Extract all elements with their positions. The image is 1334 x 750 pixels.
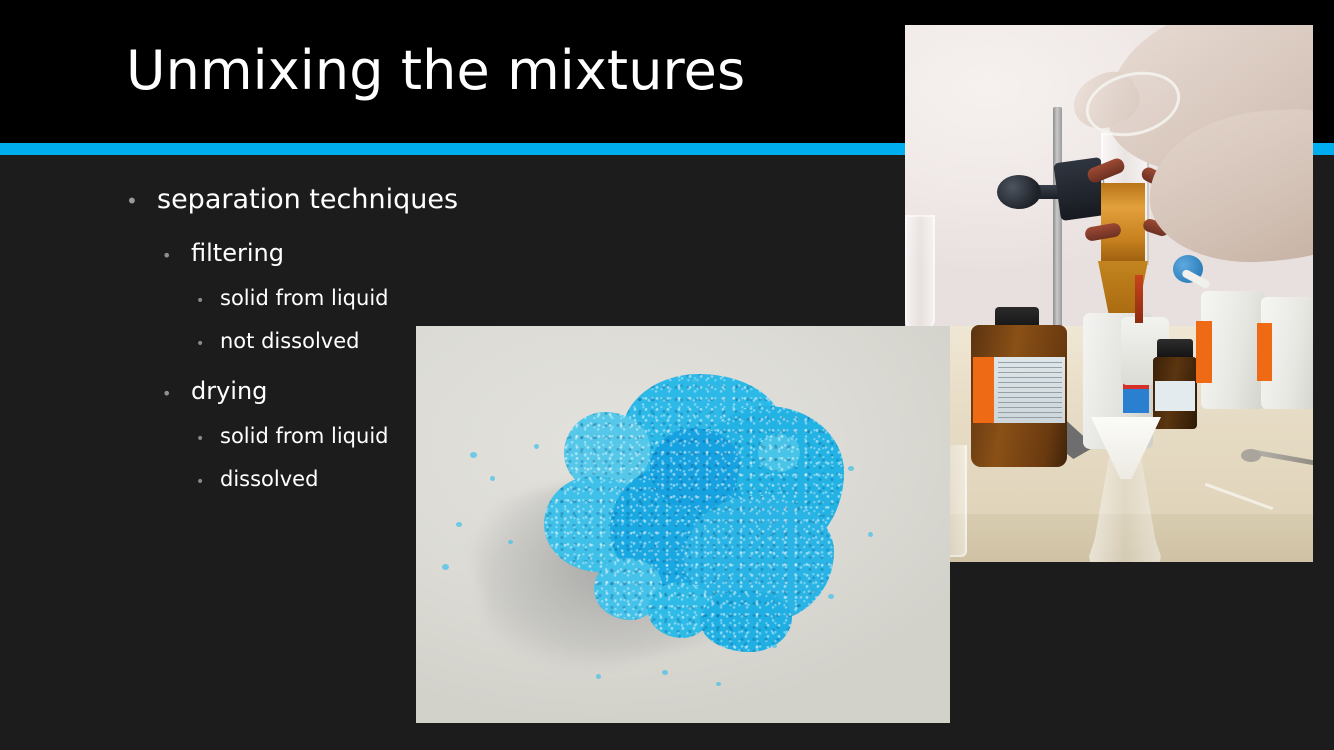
list-item-label: filtering (191, 239, 284, 267)
test-tube (905, 215, 935, 331)
list-item-label: solid from liquid (220, 286, 388, 310)
copper-sulfate-photo (416, 326, 950, 723)
list-item-label: separation techniques (157, 184, 458, 215)
label-text-lines (998, 362, 1062, 419)
slide-canvas: Unmixing the mixtures • separation techn… (0, 0, 1334, 750)
crystal-speck (868, 532, 873, 537)
crystal-speck (716, 682, 721, 686)
amber-bottle-label (973, 357, 1065, 423)
list-item-label: solid from liquid (220, 424, 388, 448)
list-item-label: not dissolved (220, 329, 359, 353)
crystal-speck (692, 378, 697, 382)
crystal-speck (828, 594, 834, 599)
list-item: • separation techniques (0, 184, 560, 215)
hazard-stripe (1196, 321, 1212, 383)
crystal-speck (772, 644, 777, 648)
page-title: Unmixing the mixtures (126, 38, 745, 104)
white-reagent-bottle (1201, 291, 1265, 409)
crystal-speck (490, 476, 495, 481)
bullet-dot-icon: • (196, 432, 220, 446)
bullet-dot-icon: • (196, 294, 220, 308)
bullet-dot-icon: • (126, 191, 157, 211)
spatula-bowl (1241, 449, 1261, 462)
crystal-speck (508, 540, 513, 544)
list-item: • solid from liquid (0, 286, 560, 310)
crystal-lump (650, 428, 740, 510)
bullet-dot-icon: • (196, 337, 220, 351)
white-reagent-bottle (1261, 297, 1313, 409)
bullet-dot-icon: • (196, 475, 220, 489)
hazard-stripe (1257, 323, 1272, 381)
small-bottle-label (1155, 381, 1195, 411)
crystal-pile (544, 368, 844, 668)
crystal-speck (456, 522, 462, 527)
crystal-lump (700, 590, 792, 652)
crystal-lump (758, 434, 800, 472)
lab-bench-photo (905, 25, 1313, 562)
crystal-speck (596, 674, 601, 679)
list-item-label: dissolved (220, 467, 318, 491)
crystal-speck (442, 564, 449, 570)
list-item: • filtering (0, 239, 560, 267)
crystal-speck (848, 466, 854, 471)
clamp-knob (997, 175, 1041, 209)
crystal-speck (534, 444, 539, 449)
bottom-background-strip (0, 723, 1334, 750)
bullet-dot-icon: • (162, 386, 191, 402)
bullet-dot-icon: • (162, 248, 191, 264)
list-item-label: drying (191, 377, 267, 405)
crystal-speck (470, 452, 477, 458)
wash-bottle-stem (1135, 275, 1143, 323)
hazard-stripe (973, 357, 994, 423)
crystal-speck (662, 670, 668, 675)
